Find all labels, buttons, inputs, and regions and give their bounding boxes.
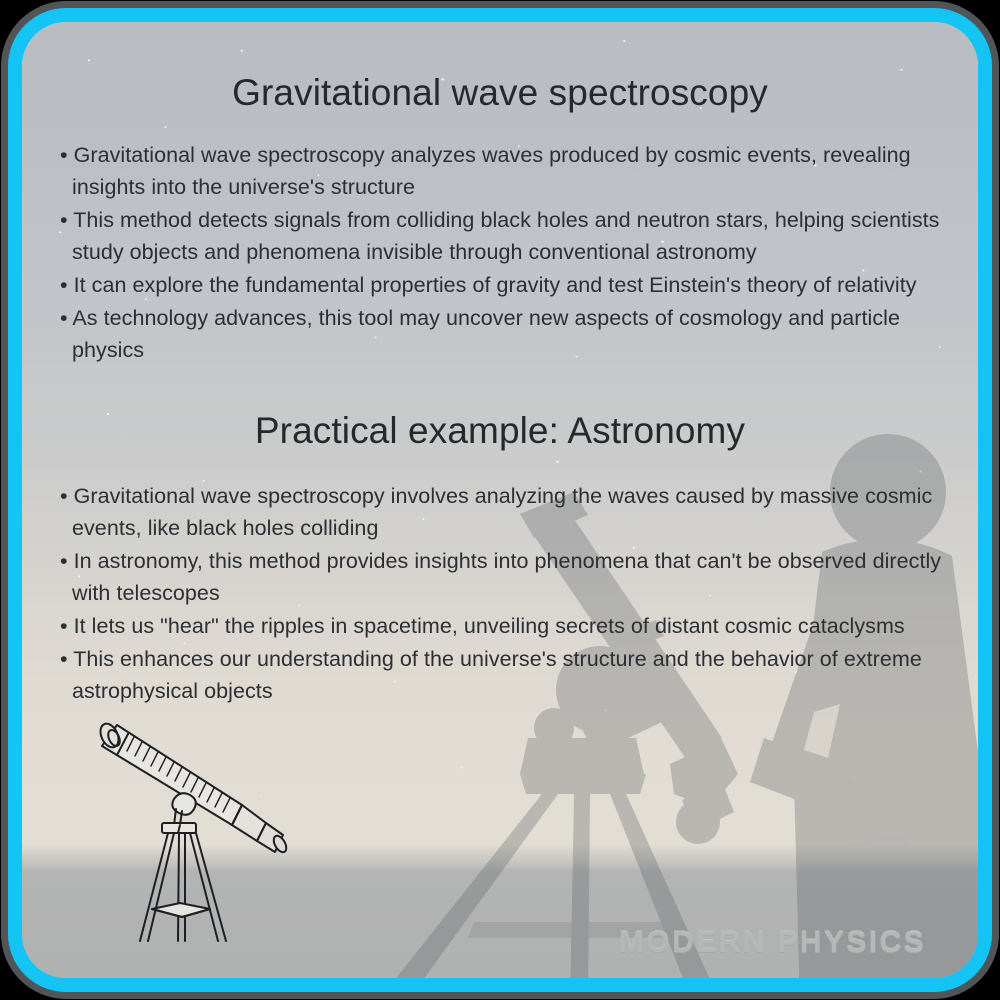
bullet-item: • It can explore the fundamental propert…	[60, 269, 950, 301]
section-title-gravitational-wave-spectroscopy: Gravitational wave spectroscopy	[46, 72, 954, 113]
bullet-item: • It lets us "hear" the ripples in space…	[60, 610, 950, 642]
slide-frame: Gravitational wave spectroscopy • Gravit…	[8, 8, 992, 992]
watermark-modern-physics: MODERN PHYSICS	[619, 926, 926, 960]
bullet-item: • In astronomy, this method provides ins…	[60, 545, 950, 609]
bullet-list-gravitational: • Gravitational wave spectroscopy analyz…	[46, 139, 954, 366]
bullet-item: • Gravitational wave spectroscopy involv…	[60, 480, 950, 544]
telescope-line-art-icon	[90, 713, 305, 948]
bullet-list-practical: • Gravitational wave spectroscopy involv…	[46, 480, 954, 707]
bullet-item: • As technology advances, this tool may …	[60, 302, 950, 366]
bullet-item: • Gravitational wave spectroscopy analyz…	[60, 139, 950, 203]
section-title-practical-example-astronomy: Practical example: Astronomy	[46, 410, 954, 451]
bullet-item: • This enhances our understanding of the…	[60, 643, 950, 707]
bullet-item: • This method detects signals from colli…	[60, 204, 950, 268]
